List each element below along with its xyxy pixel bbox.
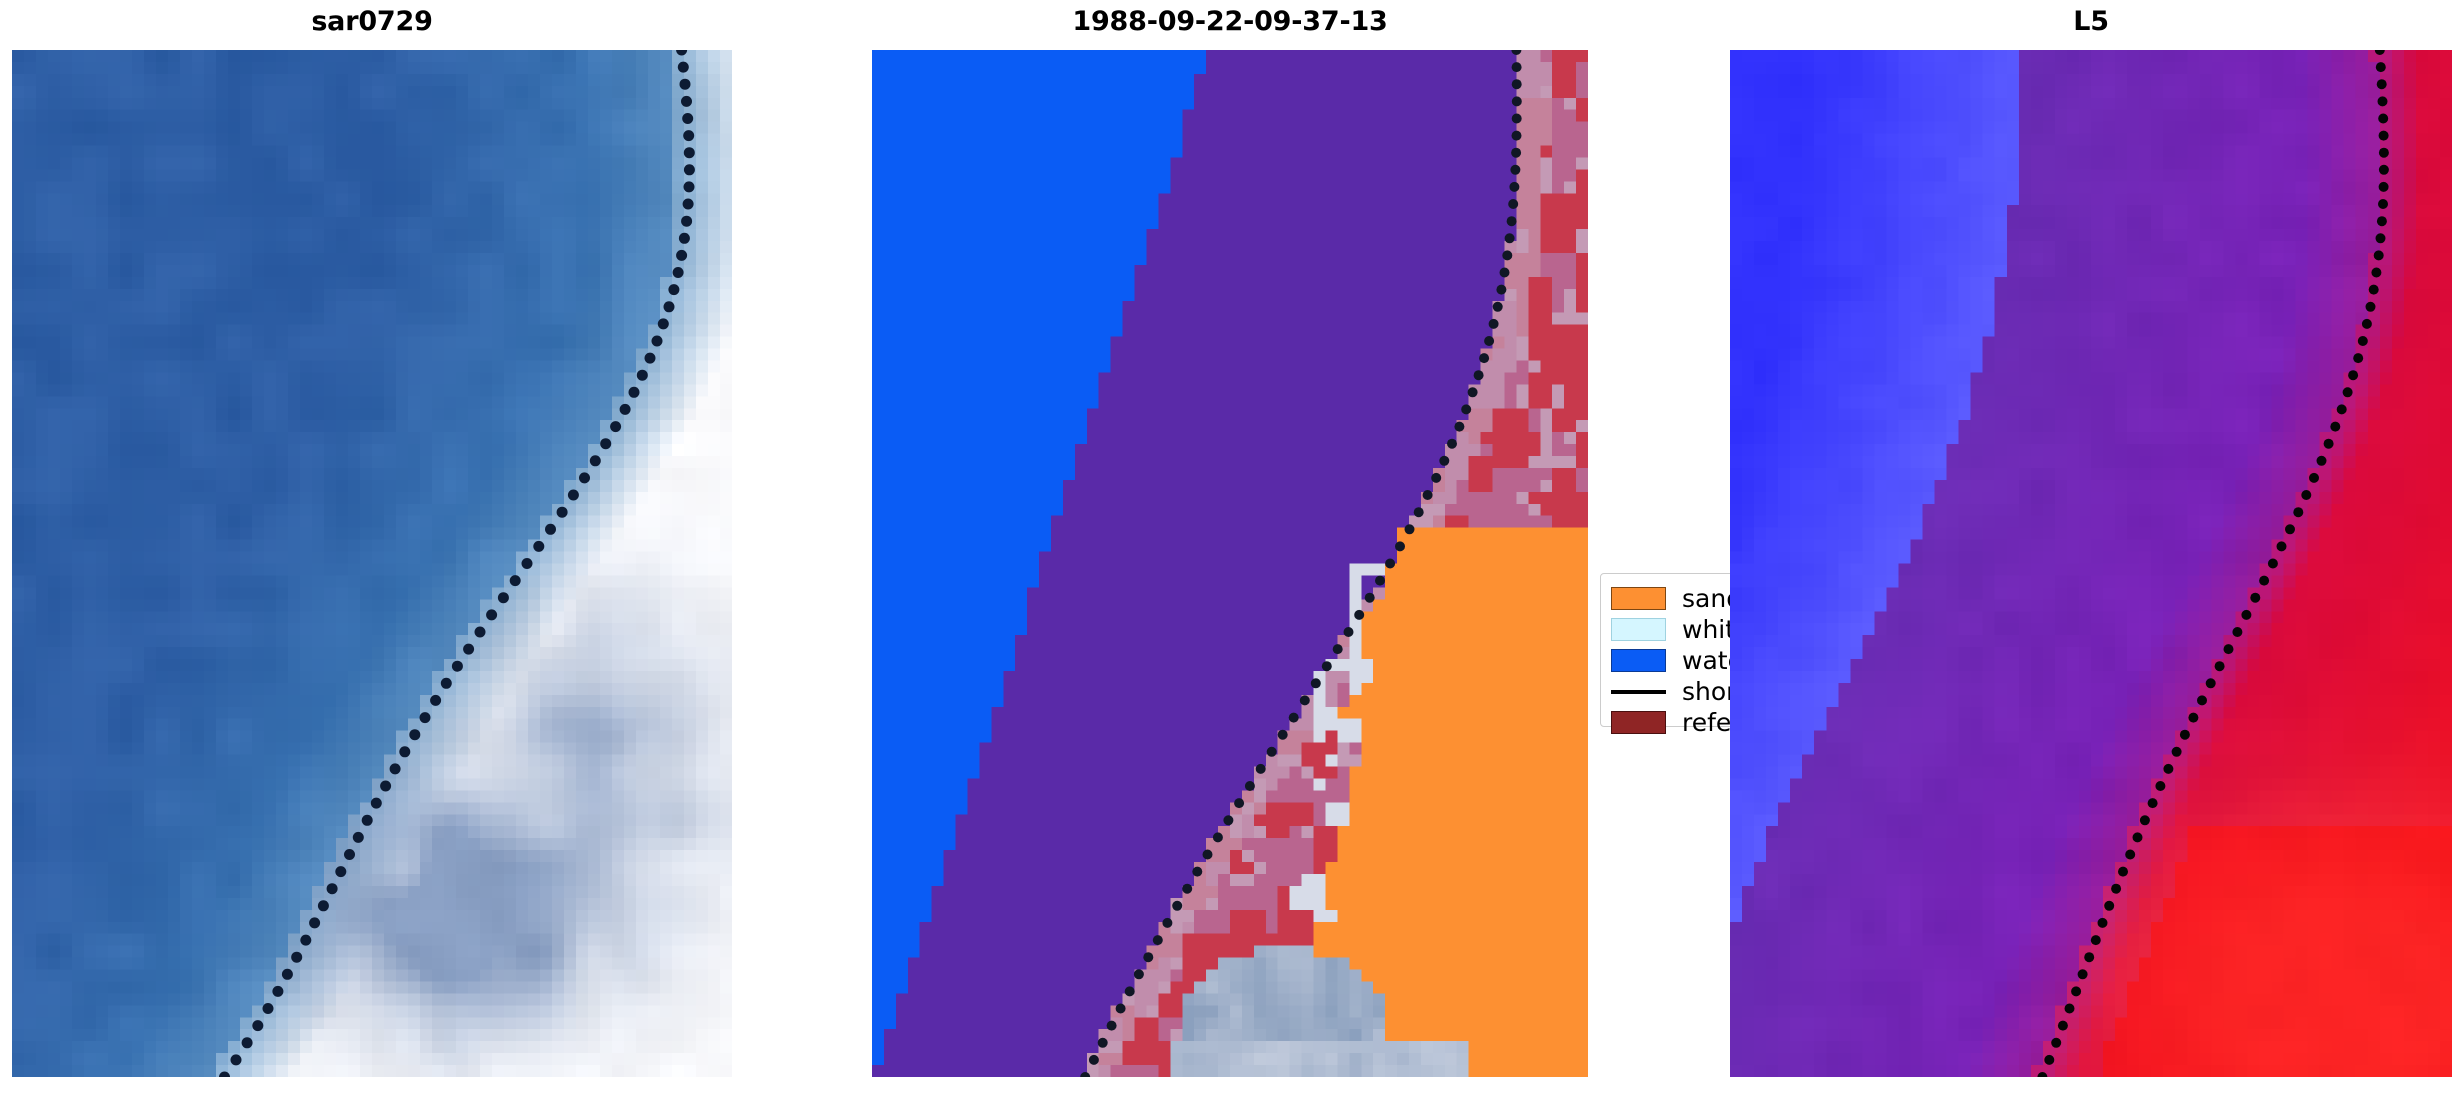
panel-title-l5: L5 bbox=[1730, 6, 2452, 37]
panel-title-sar: sar0729 bbox=[12, 6, 732, 37]
legend-swatch-reference-shoreline bbox=[1611, 711, 1666, 734]
legend-swatch-sand bbox=[1611, 587, 1666, 610]
shoreline-overlay bbox=[12, 50, 732, 1077]
legend-swatch-whitewater bbox=[1611, 618, 1666, 641]
panel-title-classified: 1988-09-22-09-37-13 bbox=[872, 6, 1588, 37]
figure-root: sar0729 1988-09-22-09-37-13 sand whitewa… bbox=[0, 0, 2460, 1093]
shoreline-overlay bbox=[872, 50, 1588, 1077]
shoreline-overlay bbox=[1730, 50, 2452, 1077]
panel-sar-image[interactable] bbox=[12, 50, 732, 1077]
panel-l5-image[interactable] bbox=[1730, 50, 2452, 1077]
legend-swatch-shoreline bbox=[1611, 680, 1666, 703]
panel-classified-image[interactable] bbox=[872, 50, 1588, 1077]
legend-swatch-water bbox=[1611, 649, 1666, 672]
